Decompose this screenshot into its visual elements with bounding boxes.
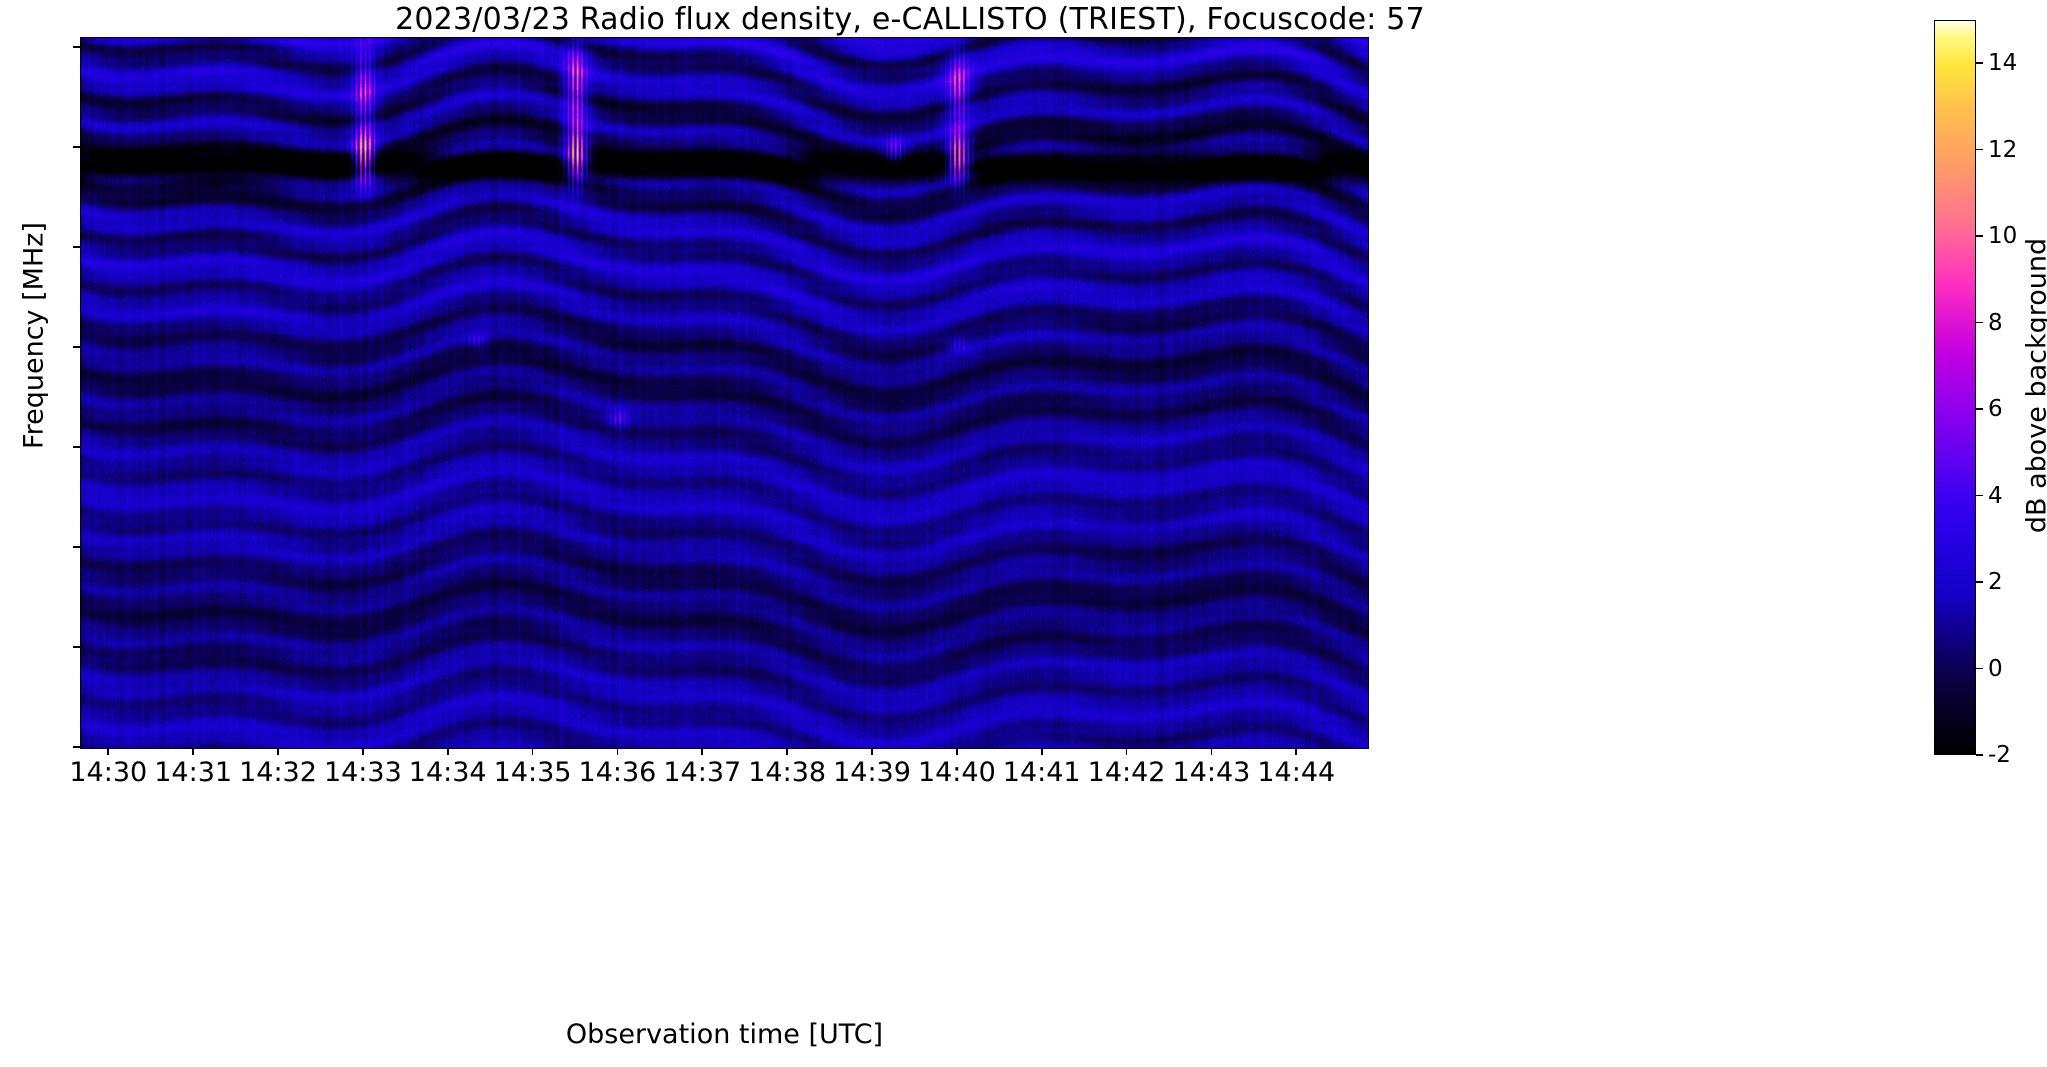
x-tick-mark: [1211, 748, 1213, 755]
colorbar-tick-label: 0: [1988, 656, 2003, 682]
spectrogram-figure: 2023/03/23 Radio flux density, e-CALLIST…: [0, 0, 2047, 1067]
colorbar-tick-label: 10: [1988, 223, 2017, 249]
spectrogram-image: [81, 38, 1368, 748]
x-tick-mark: [1126, 748, 1128, 755]
x-tick-label: 14:42: [1088, 757, 1166, 788]
colorbar-tick-label: 2: [1988, 569, 2003, 595]
x-tick-label: 14:33: [324, 757, 402, 788]
colorbar-tick-mark: [1976, 149, 1983, 151]
colorbar-tick-label: 6: [1988, 396, 2003, 422]
colorbar-tick-mark: [1976, 495, 1983, 497]
colorbar-tick-label: -2: [1988, 742, 2011, 768]
x-tick-label: 14:35: [494, 757, 572, 788]
colorbar-tick-mark: [1976, 754, 1983, 756]
page-title: 2023/03/23 Radio flux density, e-CALLIST…: [0, 2, 1820, 37]
colorbar-tick-mark: [1976, 62, 1983, 64]
x-tick-label: 14:31: [154, 757, 232, 788]
x-axis-label: Observation time [UTC]: [80, 1019, 1369, 1050]
x-tick-mark: [192, 748, 194, 755]
x-tick-mark: [871, 748, 873, 755]
x-tick-label: 14:40: [918, 757, 996, 788]
y-tick-mark: [73, 646, 80, 648]
y-tick-mark: [73, 346, 80, 348]
colorbar-tick-label: 14: [1988, 50, 2017, 76]
colorbar-gradient: [1935, 21, 1975, 754]
x-tick-label: 14:34: [409, 757, 487, 788]
y-tick-mark: [73, 46, 80, 48]
colorbar-tick-label: 8: [1988, 310, 2003, 336]
colorbar-label: dB above background: [2022, 106, 2047, 666]
colorbar-tick-mark: [1976, 408, 1983, 410]
colorbar-tick-mark: [1976, 668, 1983, 670]
x-tick-mark: [617, 748, 619, 755]
x-tick-label: 14:36: [579, 757, 657, 788]
x-tick-label: 14:43: [1173, 757, 1251, 788]
colorbar-tick-mark: [1976, 322, 1983, 324]
x-tick-label: 14:44: [1257, 757, 1335, 788]
x-tick-label: 14:38: [748, 757, 826, 788]
colorbar-tick-label: 12: [1988, 137, 2017, 163]
colorbar-tick-mark: [1976, 581, 1983, 583]
x-tick-mark: [701, 748, 703, 755]
y-tick-mark: [73, 446, 80, 448]
x-tick-mark: [447, 748, 449, 755]
x-tick-mark: [277, 748, 279, 755]
spectrogram-axes: [80, 37, 1369, 749]
colorbar-tick-mark: [1976, 235, 1983, 237]
colorbar-tick-label: 4: [1988, 483, 2003, 509]
x-tick-label: 14:39: [833, 757, 911, 788]
x-tick-mark: [786, 748, 788, 755]
x-tick-label: 14:37: [663, 757, 741, 788]
y-tick-mark: [73, 546, 80, 548]
x-tick-mark: [362, 748, 364, 755]
x-tick-mark: [107, 748, 109, 755]
x-tick-mark: [1041, 748, 1043, 755]
y-axis-label: Frequency [MHz]: [19, 56, 50, 616]
x-tick-mark: [1295, 748, 1297, 755]
y-tick-mark: [73, 146, 80, 148]
colorbar: [1934, 20, 1976, 755]
y-tick-mark: [73, 746, 80, 748]
y-tick-mark: [73, 246, 80, 248]
x-tick-label: 14:41: [1003, 757, 1081, 788]
x-tick-label: 14:30: [69, 757, 147, 788]
x-tick-mark: [532, 748, 534, 755]
x-tick-mark: [956, 748, 958, 755]
x-tick-label: 14:32: [239, 757, 317, 788]
